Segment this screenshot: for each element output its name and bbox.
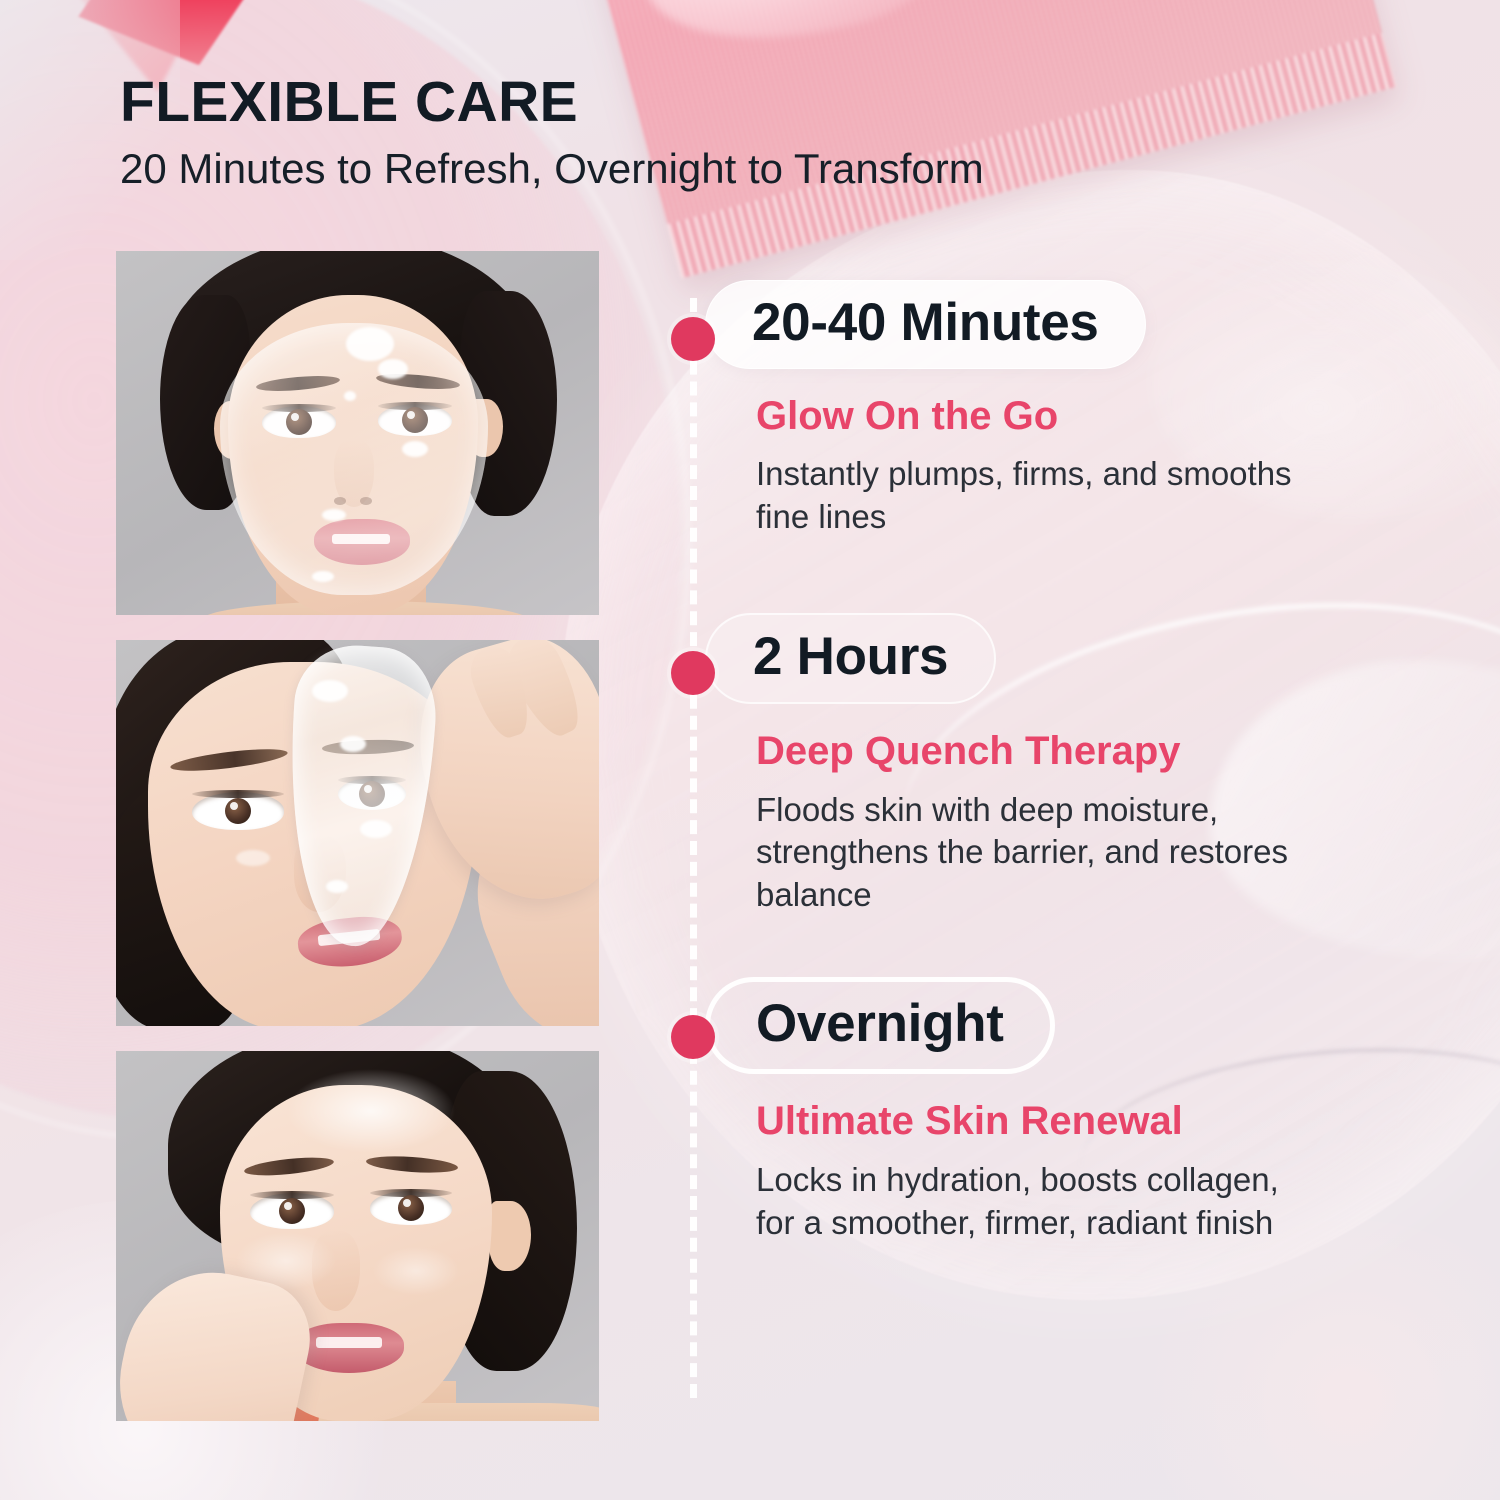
duration-pill: Overnight [705,977,1055,1074]
timeline-step: 2 Hours Deep Quench Therapy Floods skin … [660,613,1380,917]
page-subtitle: 20 Minutes to Refresh, Overnight to Tran… [120,147,984,192]
step-title: Glow On the Go [756,395,1380,437]
page-title: FLEXIBLE CARE [120,74,984,131]
photo-radiant-result [116,1051,599,1421]
photo-mask-peeling [116,640,599,1026]
skin-gleam [236,850,270,866]
timeline-dot [671,651,715,695]
gel-gleam [378,359,408,379]
step-description: Locks in hydration, boosts collagen, for… [756,1159,1326,1245]
gel-gleam [402,441,428,457]
photo-mask-applied [116,251,599,615]
skin-glow-overlay [116,1051,599,1421]
headline-block: FLEXIBLE CARE 20 Minutes to Refresh, Ove… [120,74,984,192]
duration-label: 2 Hours [753,630,948,683]
duration-pill: 2 Hours [705,613,996,704]
step-body: Deep Quench Therapy Floods skin with dee… [756,730,1380,917]
gel-gleam [346,327,394,361]
step-title: Deep Quench Therapy [756,730,1380,772]
step-description: Floods skin with deep moisture, strength… [756,789,1326,918]
timeline-step: 20-40 Minutes Glow On the Go Instantly p… [660,280,1380,539]
gel-gleam [344,391,356,401]
timeline-dot [671,317,715,361]
step-title: Ultimate Skin Renewal [756,1100,1380,1142]
eyelash [192,790,284,798]
gel-gleam [312,571,334,582]
step-body: Ultimate Skin Renewal Locks in hydration… [756,1100,1380,1244]
gel-gleam [312,680,348,702]
step-body: Glow On the Go Instantly plumps, firms, … [756,395,1380,539]
iris [225,798,251,824]
gel-gleam [322,509,346,521]
timeline-dot [671,1015,715,1059]
infographic-canvas: FLEXIBLE CARE 20 Minutes to Refresh, Ove… [0,0,1500,1500]
sachet-artwork [622,0,987,75]
gel-gleam [360,820,392,838]
gel-gleam [340,736,366,752]
eye-left [192,792,284,830]
duration-label: Overnight [756,997,1004,1050]
timeline: 20-40 Minutes Glow On the Go Instantly p… [660,280,1380,1244]
gel-gleam [326,880,348,893]
step-description: Instantly plumps, firms, and smooths fin… [756,453,1326,539]
photo-column [116,251,599,1421]
duration-label: 20-40 Minutes [752,296,1099,349]
timeline-step: Overnight Ultimate Skin Renewal Locks in… [660,977,1380,1244]
duration-pill: 20-40 Minutes [705,280,1146,369]
